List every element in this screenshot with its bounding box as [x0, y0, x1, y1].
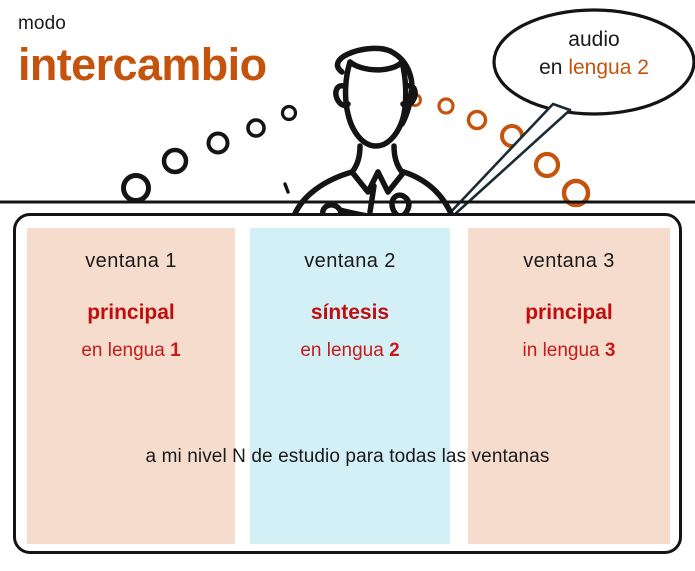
window-language-prefix-1: en lengua [81, 340, 170, 361]
balloon-line-audio: audio [506, 26, 682, 54]
balloon-language-prefix: en [539, 56, 568, 79]
sound-bubbles-black-icon [124, 107, 296, 201]
accent-mark [285, 184, 288, 192]
speech-balloon-text: audio en lengua 2 [506, 26, 682, 83]
window-role-1: principal [27, 300, 235, 325]
title-block: modo intercambio [18, 14, 348, 88]
window-title-1: ventana 1 [27, 249, 235, 273]
window-column-ventana-2[interactable]: ventana 2 síntesis en lengua 2 [250, 228, 450, 544]
panel-footer-note: a mi nivel N de estudio para todas las v… [13, 446, 682, 469]
window-language-2: en lengua 2 [250, 340, 450, 363]
title-kicker: modo [18, 14, 348, 35]
windows-columns: ventana 1 principal en lengua 1 ventana … [27, 228, 670, 544]
balloon-line-language: en lengua 2 [506, 54, 682, 82]
window-language-3: in lengua 3 [468, 340, 670, 363]
window-title-2: ventana 2 [250, 249, 450, 273]
diagram-canvas: modo intercambio [0, 0, 695, 571]
window-role-2: síntesis [250, 300, 450, 325]
window-language-number-1: 1 [170, 340, 181, 361]
window-language-prefix-2: en lengua [300, 340, 389, 361]
window-language-1: en lengua 1 [27, 340, 235, 363]
window-language-number-3: 3 [605, 340, 616, 361]
window-column-ventana-3[interactable]: ventana 3 principal in lengua 3 [468, 228, 670, 544]
window-column-ventana-1[interactable]: ventana 1 principal en lengua 1 [27, 228, 235, 544]
sound-bubbles-orange-icon [410, 95, 589, 206]
window-language-prefix-3: in lengua [523, 340, 605, 361]
page-title: intercambio [18, 41, 348, 88]
window-title-3: ventana 3 [468, 249, 670, 273]
window-language-number-2: 2 [389, 340, 400, 361]
balloon-language-accent: lengua 2 [568, 56, 649, 79]
window-role-3: principal [468, 300, 670, 325]
